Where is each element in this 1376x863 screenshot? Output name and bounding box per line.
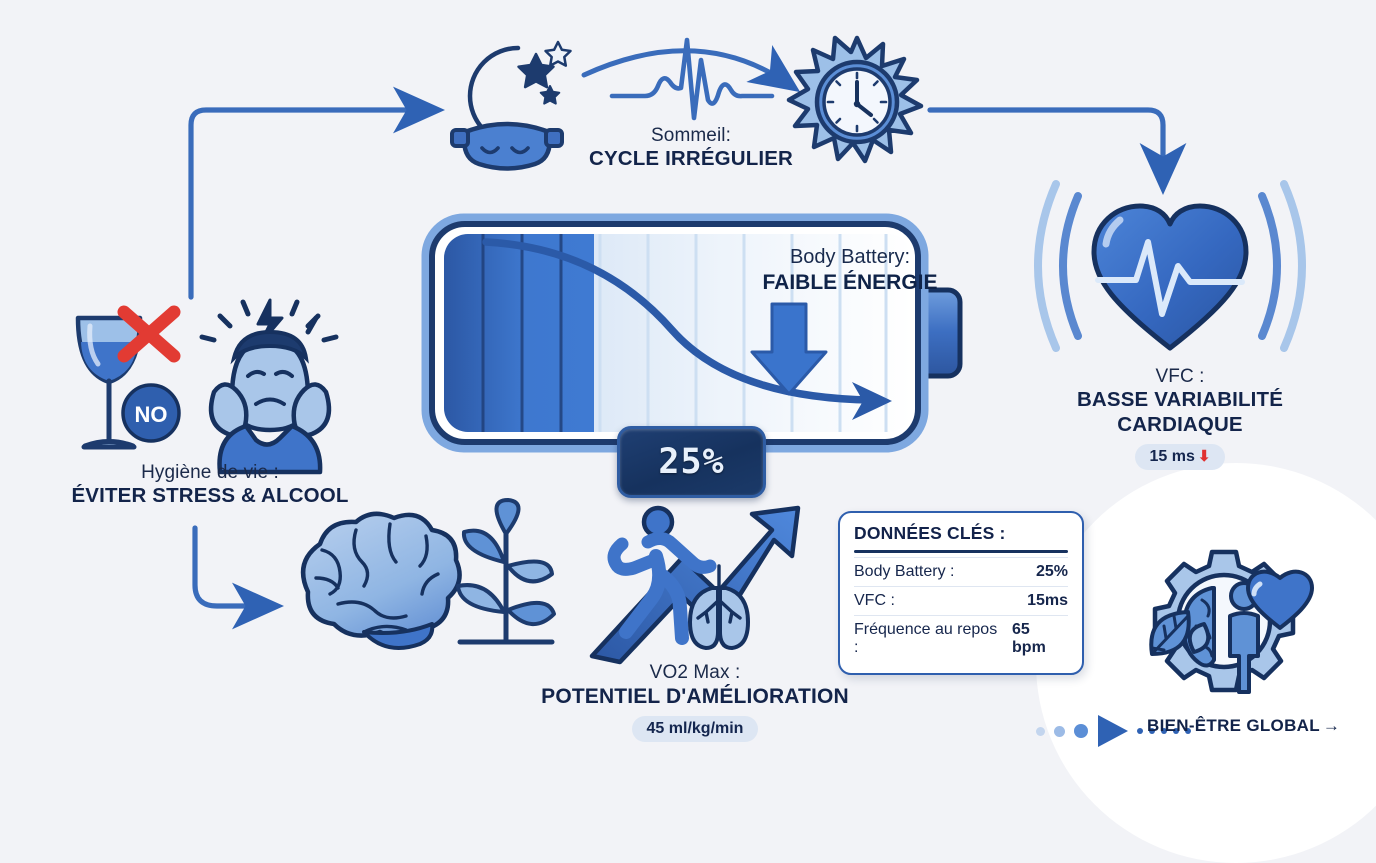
svg-text:NO: NO (135, 402, 168, 427)
arrow-lifestyle-to-brain (195, 528, 271, 606)
table-row: Body Battery : 25% (854, 557, 1068, 586)
battery-caption: Body Battery: FAIBLE ÉNERGIE (720, 246, 980, 295)
vo2-caption: VO2 Max : POTENTIEL D'AMÉLIORATION 45 ml… (520, 662, 870, 742)
battery-label-light: Body Battery: (720, 246, 980, 269)
progress-dot-1 (1036, 727, 1045, 736)
key-data-title: DONNÉES CLÉS : (854, 523, 1068, 544)
table-row: Fréquence au repos : 65 bpm (854, 615, 1068, 662)
key-data-key: Body Battery : (854, 563, 955, 581)
battery-label-bold: FAIBLE ÉNERGIE (720, 271, 980, 295)
lifestyle-label-light: Hygiène de vie : (20, 462, 400, 483)
plant-leaves-icon (440, 500, 570, 650)
infographic-canvas: Sommeil: CYCLE IRRÉGULIER NO (0, 0, 1376, 768)
arrow-lifestyle-to-sleep (191, 110, 432, 297)
sleep-label-bold: CYCLE IRRÉGULIER (536, 148, 846, 171)
key-data-value: 65 bpm (1012, 621, 1068, 657)
lifestyle-caption: Hygiène de vie : ÉVITER STRESS & ALCOOL (20, 462, 400, 508)
cta-bien-etre-global[interactable]: BIEN-ÊTRE GLOBAL→ (1147, 716, 1340, 736)
red-cross-icon (108, 298, 200, 370)
battery-percent-value: 25% (658, 442, 724, 482)
cta-arrow-icon: → (1323, 716, 1340, 735)
hrv-badge: 15 ms⬇ (1135, 444, 1226, 470)
hrv-label-bold-2: CARDIAQUE (1035, 414, 1325, 437)
battery-percent-readout: 25% (617, 426, 766, 498)
arrow-clock-to-heart (930, 110, 1163, 182)
vo2-label-bold: POTENTIEL D'AMÉLIORATION (520, 685, 870, 709)
no-badge-icon: NO (120, 382, 182, 444)
hrv-badge-value: 15 ms (1150, 448, 1195, 465)
runner-arrow-lungs-icon (586, 496, 816, 664)
play-triangle-icon (1094, 712, 1134, 750)
key-data-key: Fréquence au repos : (854, 621, 1006, 657)
progress-dot-2 (1054, 726, 1065, 737)
key-data-value: 15ms (1027, 592, 1068, 610)
heart-pulse-waves-icon (1020, 176, 1320, 366)
key-data-card: DONNÉES CLÉS : Body Battery : 25% VFC : … (838, 511, 1084, 675)
stressed-person-icon (190, 296, 350, 474)
lifestyle-label-bold: ÉVITER STRESS & ALCOOL (20, 485, 400, 508)
sleep-caption: Sommeil: CYCLE IRRÉGULIER (536, 125, 846, 171)
hrv-caption: VFC : BASSE VARIABILITÉ CARDIAQUE 15 ms⬇ (1035, 366, 1325, 470)
key-data-key: VFC : (854, 592, 895, 610)
key-data-divider (854, 550, 1068, 553)
vo2-label-light: VO2 Max : (520, 662, 870, 683)
cta-label: BIEN-ÊTRE GLOBAL (1147, 716, 1320, 735)
hrv-trend-down-icon: ⬇ (1198, 448, 1211, 465)
progress-dot-3 (1074, 724, 1088, 738)
vo2-badge: 45 ml/kg/min (632, 716, 759, 742)
key-data-value: 25% (1036, 563, 1068, 581)
hrv-label-bold-1: BASSE VARIABILITÉ (1035, 389, 1325, 412)
sleep-label-light: Sommeil: (536, 125, 846, 146)
table-row: VFC : 15ms (854, 586, 1068, 615)
wellness-gear-brain-person-heart-leaf-icon (1136, 536, 1336, 712)
hrv-label-light: VFC : (1035, 366, 1325, 387)
